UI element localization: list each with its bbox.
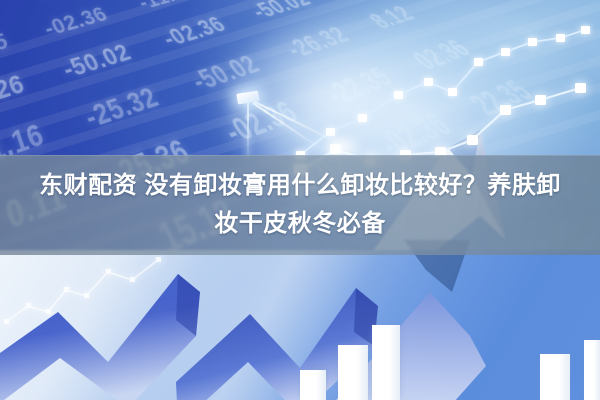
bar-chart-bar (338, 345, 368, 400)
title-line-2: 妆干皮秋冬必备 (214, 206, 386, 242)
banner-image: +5.02-02.36-11.2521.02-08.36 -25.36+5.02… (0, 0, 600, 400)
title-line-1: 东财配资 没有卸妆膏用什么卸妆比较好？养肤卸 (39, 168, 561, 204)
lamp-pole (247, 97, 249, 159)
bar-chart-bar (372, 325, 400, 400)
ribbon-arrow-left (0, 274, 200, 400)
bar-chart-bar (584, 340, 600, 400)
bar-chart-bar (540, 354, 570, 400)
bar-chart-bar (300, 370, 326, 400)
page-title: 东财配资 没有卸妆膏用什么卸妆比较好？养肤卸 妆干皮秋冬必备 (0, 155, 600, 255)
